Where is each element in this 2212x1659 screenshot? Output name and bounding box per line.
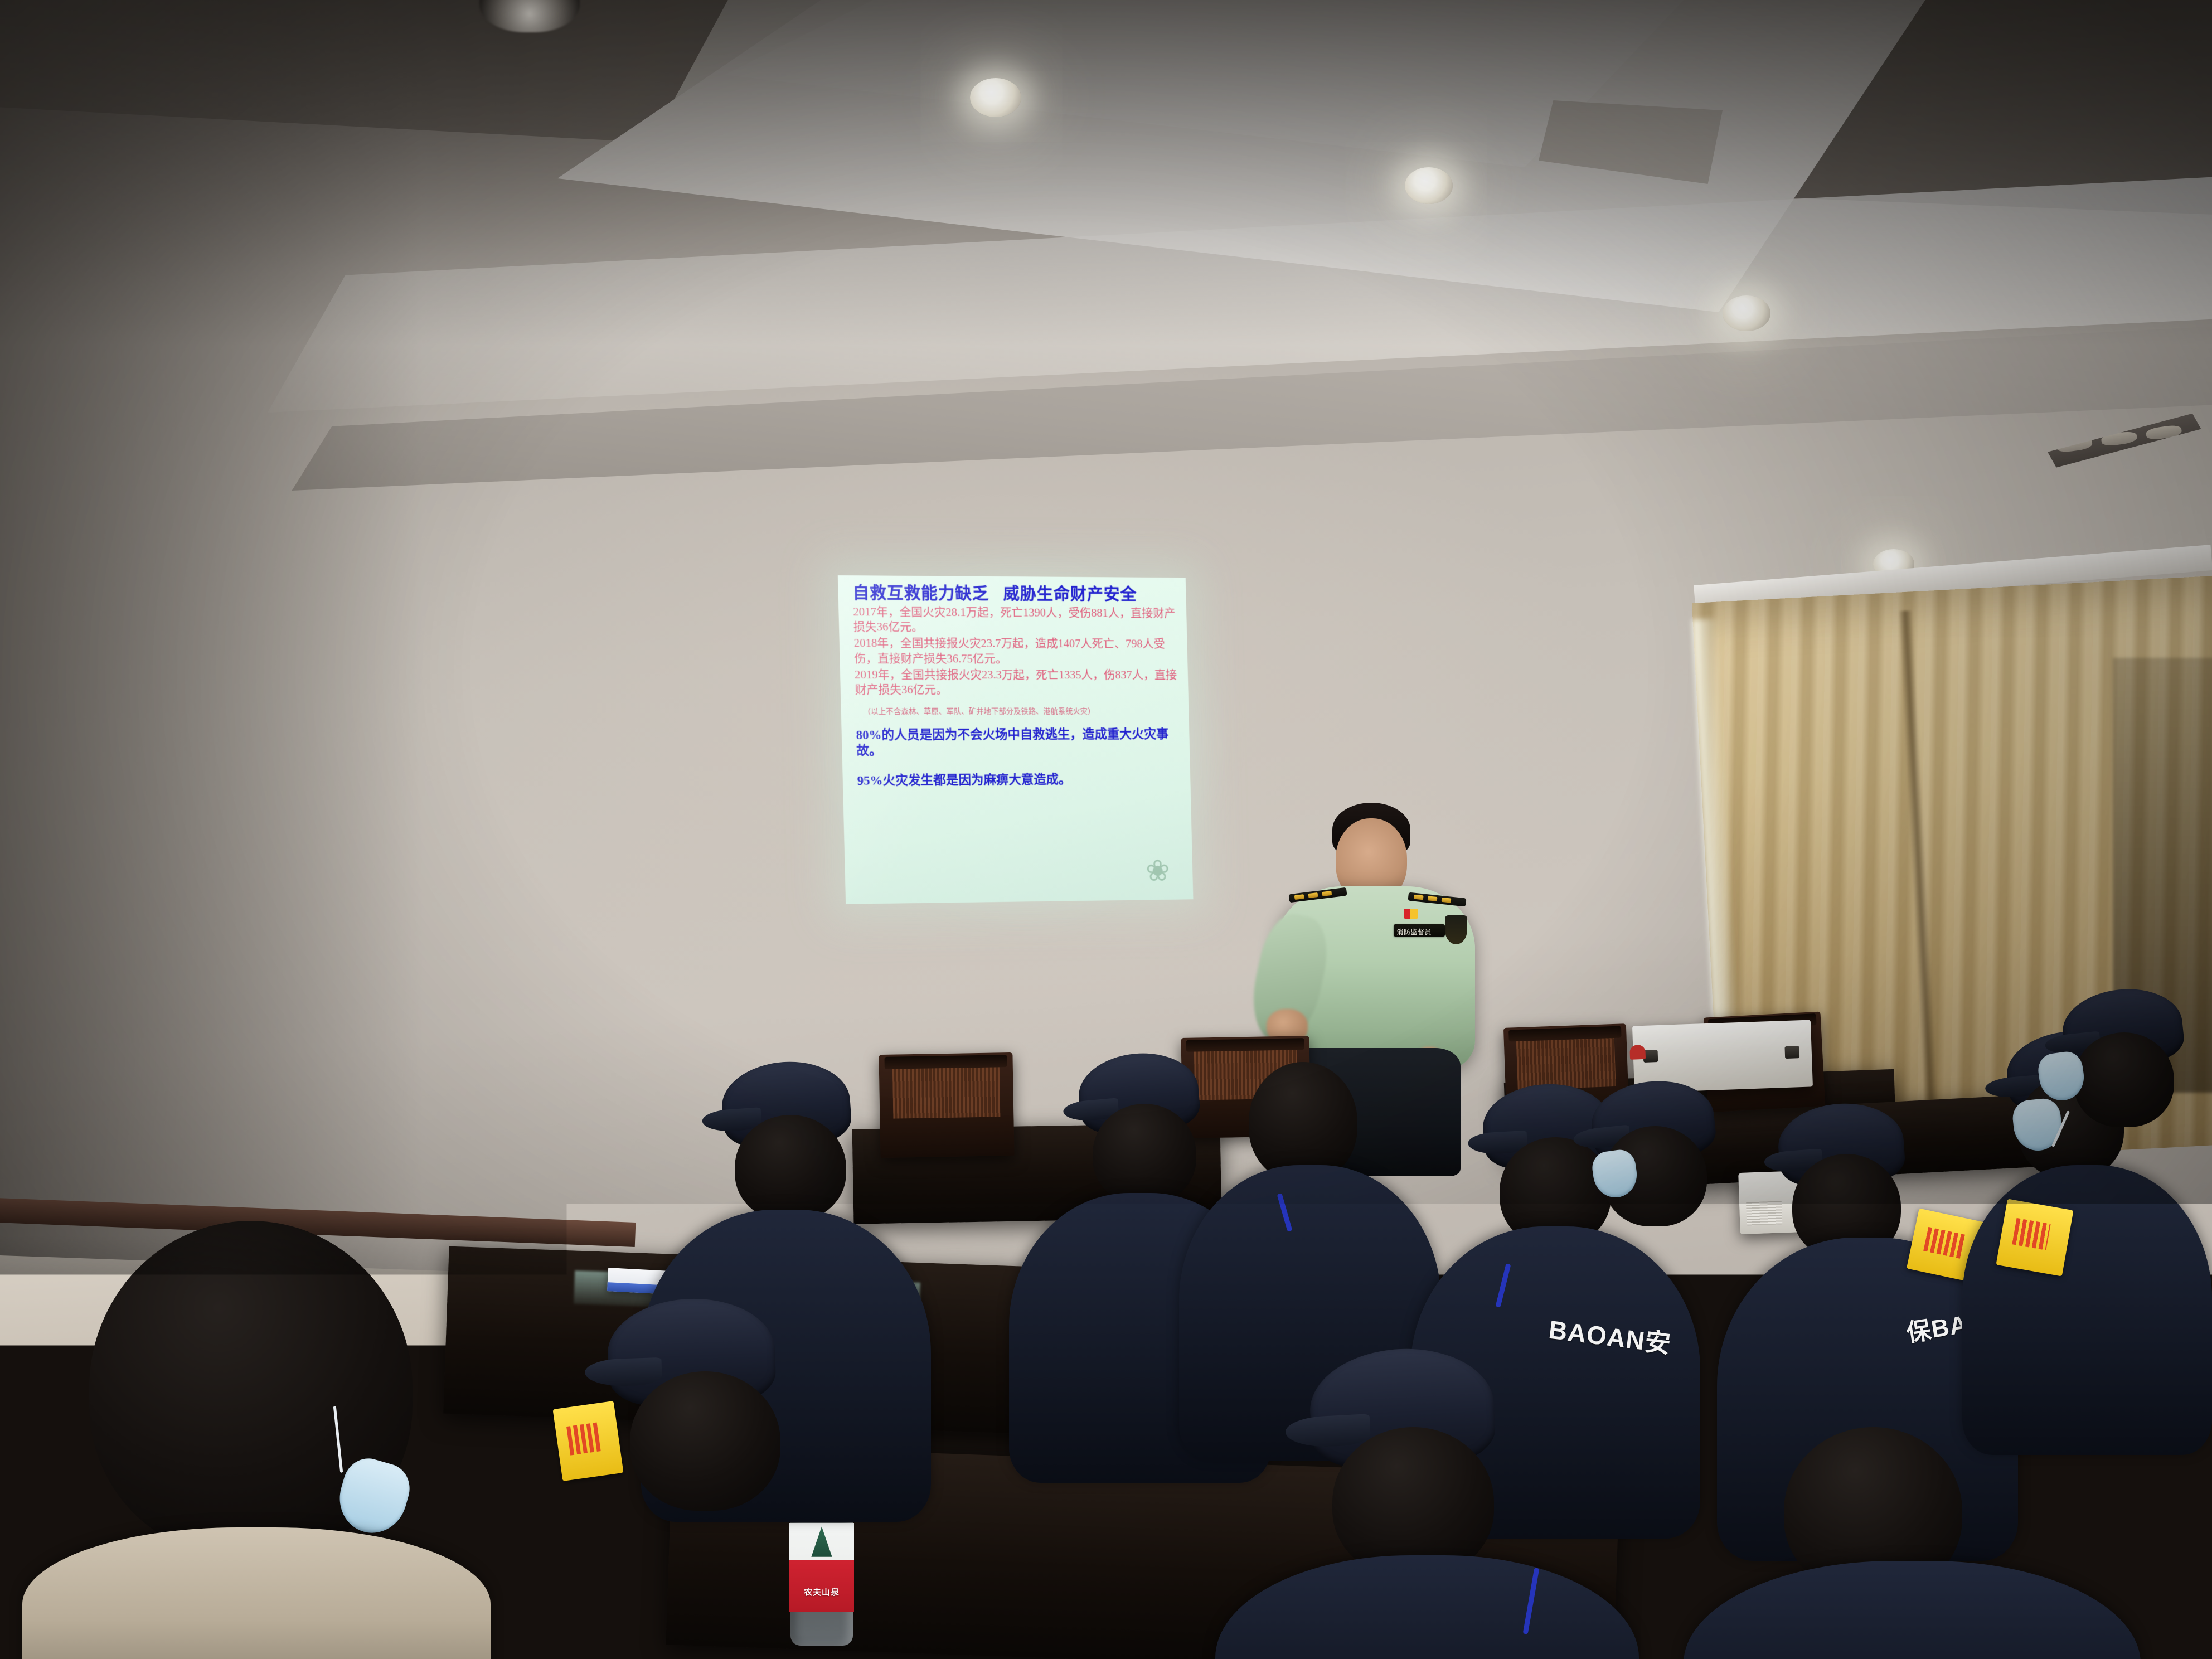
- presenter-nametag: 消防监督员: [1394, 924, 1445, 937]
- attendee-armband: [1996, 1199, 2073, 1276]
- slide-stat-2017: 2017年，全国火灾28.1万起，死亡1390人，受伤881人，直接财产损失36…: [853, 604, 1176, 636]
- flower-watermark-icon: ❀: [1145, 856, 1185, 895]
- slide-stat-2018: 2018年，全国共接报火灾23.7万起，造成1407人死亡、798人受伤，直接财…: [853, 636, 1177, 666]
- projected-slide: 自救互救能力缺乏威胁生命财产安全 2017年，全国火灾28.1万起，死亡1390…: [838, 575, 1194, 904]
- chair-back-left[interactable]: [879, 1052, 1014, 1158]
- slide-title-left: 自救互救能力缺乏: [852, 584, 989, 603]
- attendee-head: [630, 1371, 780, 1511]
- attendee-torso: [1962, 1165, 2212, 1455]
- attendee-head: [2074, 1032, 2174, 1127]
- lecture-room-scene: 自救互救能力缺乏威胁生命财产安全 2017年，全国火灾28.1万起，死亡1390…: [0, 0, 2212, 1659]
- ceiling-downlight-icon: [970, 78, 1021, 117]
- presenter-shoulder-patch: [1445, 915, 1467, 944]
- slide-title-right: 威胁生命财产安全: [1003, 585, 1137, 604]
- foreground-torso: [22, 1527, 491, 1659]
- slide-footnote: （以上不含森林、草原、军队、矿井地下部分及铁路、港航系统火灾）: [855, 705, 1178, 716]
- attendee-armband: [552, 1401, 623, 1481]
- attendee-head: [1093, 1104, 1196, 1204]
- armband-marking: [1924, 1227, 1966, 1259]
- attendee-head: [1249, 1062, 1357, 1182]
- presenter-chest-pin: [1404, 909, 1418, 919]
- projector-vent-icon: [1745, 1201, 1782, 1225]
- chair-slat-panel: [1516, 1038, 1616, 1089]
- slide-title: 自救互救能力缺乏威胁生命财产安全: [852, 584, 1176, 604]
- slide-emphasis-80: 80%的人员是因为不会火场中自救逃生，造成重大火灾事故。: [856, 726, 1179, 759]
- slide-statistics-list: 2017年，全国火灾28.1万起，死亡1390人，受伤881人，直接财产损失36…: [853, 604, 1178, 698]
- ceiling-downlight-icon: [1723, 295, 1770, 331]
- slide-emphasis-95: 95%火灾发生都是因为麻痹大意造成。: [857, 771, 1180, 788]
- ceiling-downlight-icon: [1405, 167, 1453, 204]
- case-latch-icon: [1784, 1046, 1799, 1059]
- armband-marking: [2012, 1218, 2051, 1250]
- presenter-nametag-text: 消防监督员: [1397, 927, 1432, 937]
- armband-marking: [566, 1422, 602, 1455]
- attendee-head: [735, 1115, 846, 1221]
- case-handle-icon: [1629, 1045, 1646, 1060]
- slide-stat-2019: 2019年，全国共接报火灾23.3万起，死亡1335人，伤837人，直接财产损失…: [855, 667, 1178, 698]
- chair-slat-panel: [892, 1067, 1001, 1118]
